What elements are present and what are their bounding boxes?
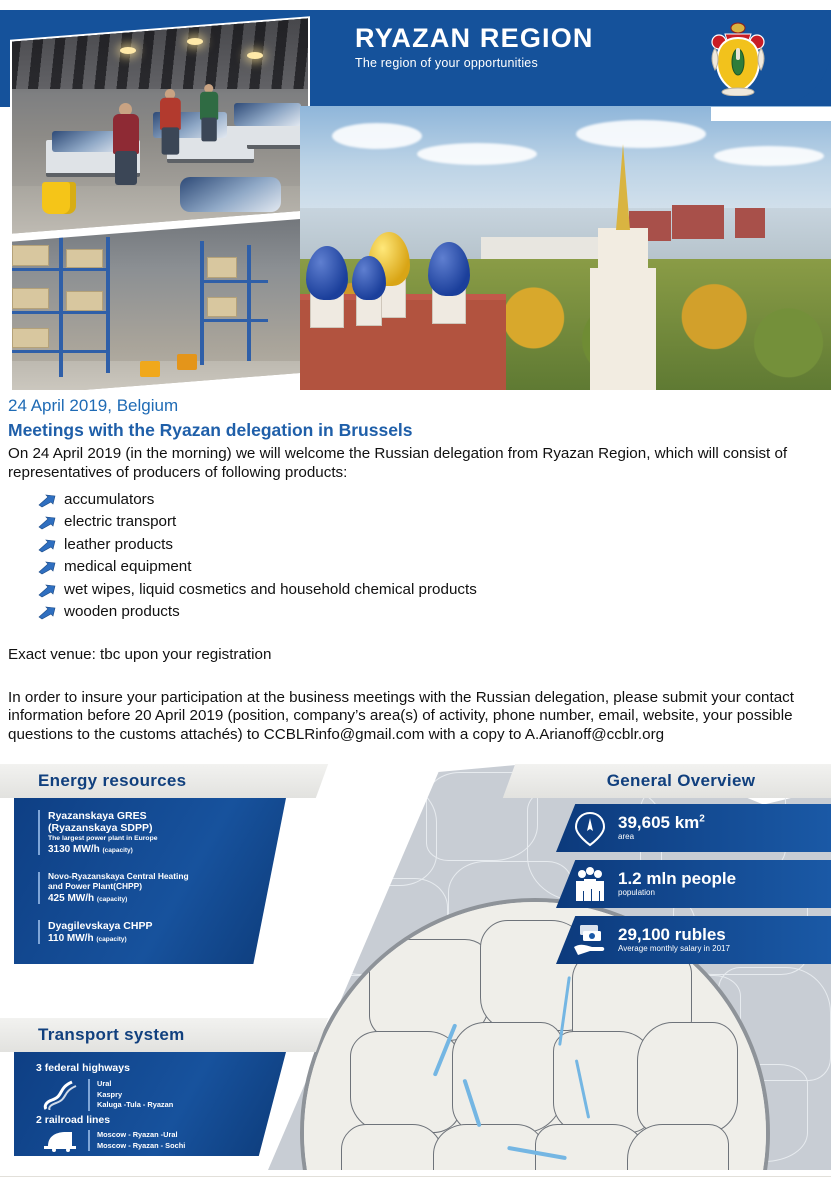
plant-name: Dyagilevskaya CHPP — [48, 920, 248, 932]
brand-block: RYAZAN REGION The region of your opportu… — [355, 24, 695, 70]
road-icon — [42, 1080, 78, 1115]
energy-panel-title: Energy resources — [38, 771, 186, 791]
railroad-item: Moscow - Ryazan - Sochi — [97, 1141, 185, 1152]
arrow-bullet-icon — [38, 493, 56, 507]
money-hand-icon — [570, 921, 610, 959]
overview-value: 29,100 rubles — [618, 925, 726, 944]
footer-divider — [0, 1176, 831, 1177]
list-item: leather products — [38, 534, 823, 557]
transport-panel-title: Transport system — [38, 1025, 185, 1045]
highways-list: Ural Kaspry Kaluga -Tula - Ryazan — [88, 1079, 173, 1111]
highway-item: Ural — [97, 1079, 173, 1090]
venue-text: Exact venue: tbc upon your registration — [8, 646, 823, 665]
plant-capacity: 3130 MW/h — [48, 844, 100, 855]
train-icon — [42, 1130, 78, 1157]
closing-paragraph: In order to insure your participation at… — [8, 689, 823, 746]
product-list: accumulators electric transport leather … — [8, 489, 823, 624]
highway-item: Kaspry — [97, 1090, 173, 1101]
article-headline: Meetings with the Ryazan delegation in B… — [8, 420, 823, 441]
textile-factory-photo — [10, 16, 310, 236]
plant-capacity: 425 MW/h — [48, 893, 94, 904]
overview-row-salary: 29,100 rubles Average monthly salary in … — [556, 916, 831, 964]
list-item-label: leather products — [64, 536, 173, 553]
people-icon — [570, 865, 610, 903]
list-item: accumulators — [38, 489, 823, 512]
list-item: electric transport — [38, 511, 823, 534]
list-item: wet wipes, liquid cosmetics and househol… — [38, 579, 823, 602]
arrow-bullet-icon — [38, 560, 56, 574]
overview-row-population: 1.2 mln people population — [556, 860, 831, 908]
warehouse-photo — [10, 216, 310, 390]
overview-row-area: 39,605 km2 area — [556, 804, 831, 852]
banner-title: RYAZAN REGION — [355, 24, 695, 52]
arrow-bullet-icon — [38, 538, 56, 552]
article-intro: On 24 April 2019 (in the morning) we wil… — [8, 445, 823, 483]
plant-name: Novo-Ryazanskaya Central Heating and Pow… — [48, 872, 248, 892]
article-meta: 24 April 2019, Belgium — [8, 396, 823, 416]
railroads-list: Moscow - Ryazan -Ural Moscow - Ryazan - … — [88, 1130, 185, 1151]
article-body: 24 April 2019, Belgium Meetings with the… — [0, 390, 831, 747]
list-item: wooden products — [38, 601, 823, 624]
list-item: medical equipment — [38, 556, 823, 579]
ryazan-kremlin-photo — [300, 106, 831, 390]
plant-name: Ryazanskaya GRES (Ryazanskaya SDPP) — [48, 810, 248, 835]
list-item-label: wooden products — [64, 603, 180, 620]
plant-capacity-note: (capacity) — [96, 936, 126, 943]
list-item-label: electric transport — [64, 513, 176, 530]
map-pin-icon — [570, 809, 610, 847]
overview-value: 39,605 km — [618, 813, 699, 832]
overview-panel-title: General Overview — [607, 771, 755, 791]
plant-capacity: 110 MW/h — [48, 933, 94, 944]
list-item-label: wet wipes, liquid cosmetics and househol… — [64, 581, 477, 598]
coat-of-arms-icon — [703, 22, 773, 96]
overview-caption: Average monthly salary in 2017 — [618, 944, 730, 954]
railroad-item: Moscow - Ryazan -Ural — [97, 1130, 185, 1141]
overview-caption: area — [618, 832, 705, 842]
overview-value-sup: 2 — [699, 814, 705, 825]
banner-subtitle: The region of your opportunities — [355, 56, 695, 70]
arrow-bullet-icon — [38, 583, 56, 597]
plant-note: The largest power plant in Europe — [48, 835, 248, 844]
overview-value: 1.2 mln people — [618, 869, 736, 888]
energy-plant-2: Novo-Ryazanskaya Central Heating and Pow… — [38, 872, 248, 904]
overview-panel-header: General Overview — [531, 764, 831, 798]
list-item-label: accumulators — [64, 491, 154, 508]
railroads-title: 2 railroad lines — [36, 1114, 110, 1126]
plant-capacity-note: (capacity) — [102, 847, 132, 854]
highways-title: 3 federal highways — [36, 1062, 130, 1074]
hero-banner: RYAZAN REGION The region of your opportu… — [0, 0, 831, 390]
highway-item: Kaluga -Tula - Ryazan — [97, 1100, 173, 1111]
transport-panel: 3 federal highways Ural Kaspry Kaluga -T… — [14, 1052, 286, 1156]
overview-caption: population — [618, 888, 736, 898]
plant-capacity-note: (capacity) — [97, 896, 127, 903]
energy-panel-header: Energy resources — [0, 764, 300, 798]
energy-panel: Ryazanskaya GRES (Ryazanskaya SDPP) The … — [14, 798, 286, 964]
transport-panel-header: Transport system — [0, 1018, 300, 1052]
arrow-bullet-icon — [38, 515, 56, 529]
energy-plant-3: Dyagilevskaya CHPP 110 MW/h (capacity) — [38, 920, 248, 944]
arrow-bullet-icon — [38, 605, 56, 619]
energy-plant-1: Ryazanskaya GRES (Ryazanskaya SDPP) The … — [38, 810, 248, 855]
list-item-label: medical equipment — [64, 558, 191, 575]
infographic: Moscow Ryazan SPAS-KLEPIK — [0, 764, 831, 1170]
